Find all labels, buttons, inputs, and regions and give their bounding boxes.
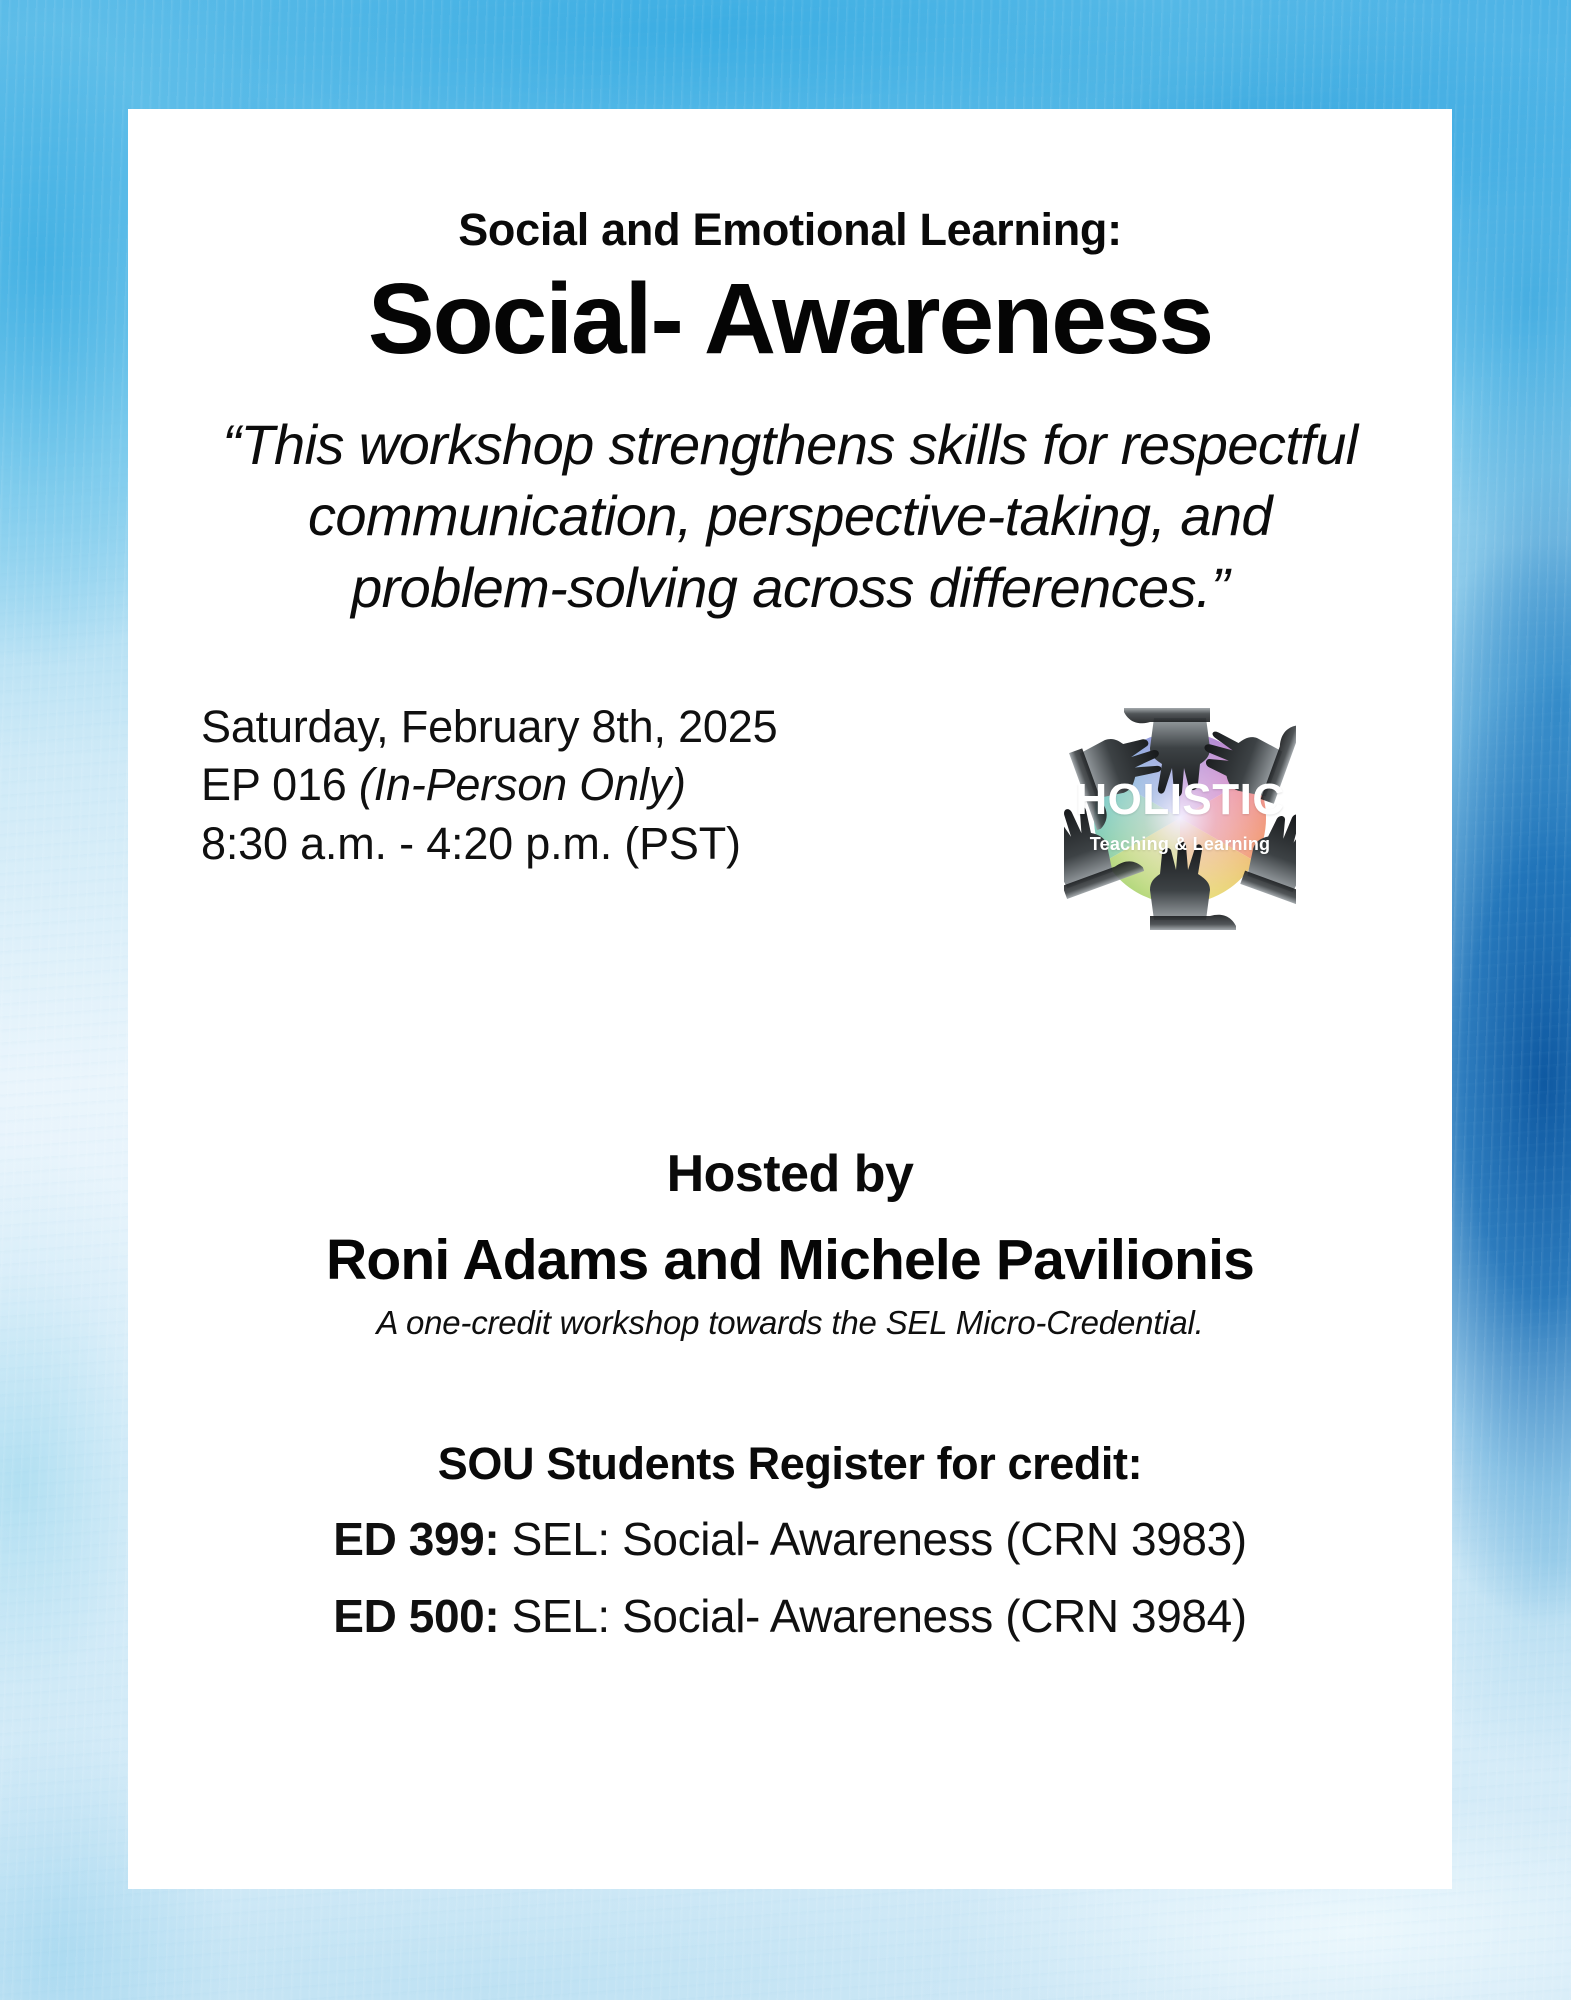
- credit-note: A one-credit workshop towards the SEL Mi…: [188, 1303, 1392, 1343]
- registration-section: SOU Students Register for credit: ED 399…: [188, 1439, 1392, 1642]
- course-line: ED 500: SEL: Social- Awareness (CRN 3984…: [188, 1591, 1392, 1642]
- event-time: 8:30 a.m. - 4:20 p.m. (PST): [201, 815, 777, 874]
- event-date: Saturday, February 8th, 2025: [201, 698, 777, 757]
- course-description: SEL: Social- Awareness (CRN 3984): [499, 1590, 1246, 1642]
- event-location: EP 016 (In-Person Only): [201, 756, 777, 815]
- holistic-hands-circle-logo: HOLISTIC Teaching & Learning: [1064, 702, 1296, 934]
- poster-quote: “This workshop strengthens skills for re…: [188, 409, 1392, 624]
- course-description: SEL: Social- Awareness (CRN 3983): [499, 1513, 1246, 1565]
- hosted-section: Hosted by Roni Adams and Michele Pavilio…: [188, 1146, 1392, 1343]
- details-row: Saturday, February 8th, 2025 EP 016 (In-…: [188, 698, 1392, 934]
- page-title: Social- Awareness: [188, 263, 1392, 375]
- poster-eyebrow: Social and Emotional Learning:: [188, 205, 1392, 255]
- event-room: EP 016: [201, 759, 347, 810]
- registration-heading: SOU Students Register for credit:: [188, 1439, 1392, 1489]
- course-code: ED 399:: [333, 1513, 499, 1565]
- host-names: Roni Adams and Michele Pavilionis: [188, 1229, 1392, 1292]
- poster-card: Social and Emotional Learning: Social- A…: [128, 109, 1452, 1889]
- poster-root: Social and Emotional Learning: Social- A…: [0, 0, 1571, 2000]
- course-code: ED 500:: [333, 1590, 499, 1642]
- hosted-by-label: Hosted by: [188, 1146, 1392, 1203]
- event-mode: (In-Person Only): [359, 759, 686, 810]
- course-line: ED 399: SEL: Social- Awareness (CRN 3983…: [188, 1514, 1392, 1565]
- event-details-block: Saturday, February 8th, 2025 EP 016 (In-…: [188, 698, 777, 874]
